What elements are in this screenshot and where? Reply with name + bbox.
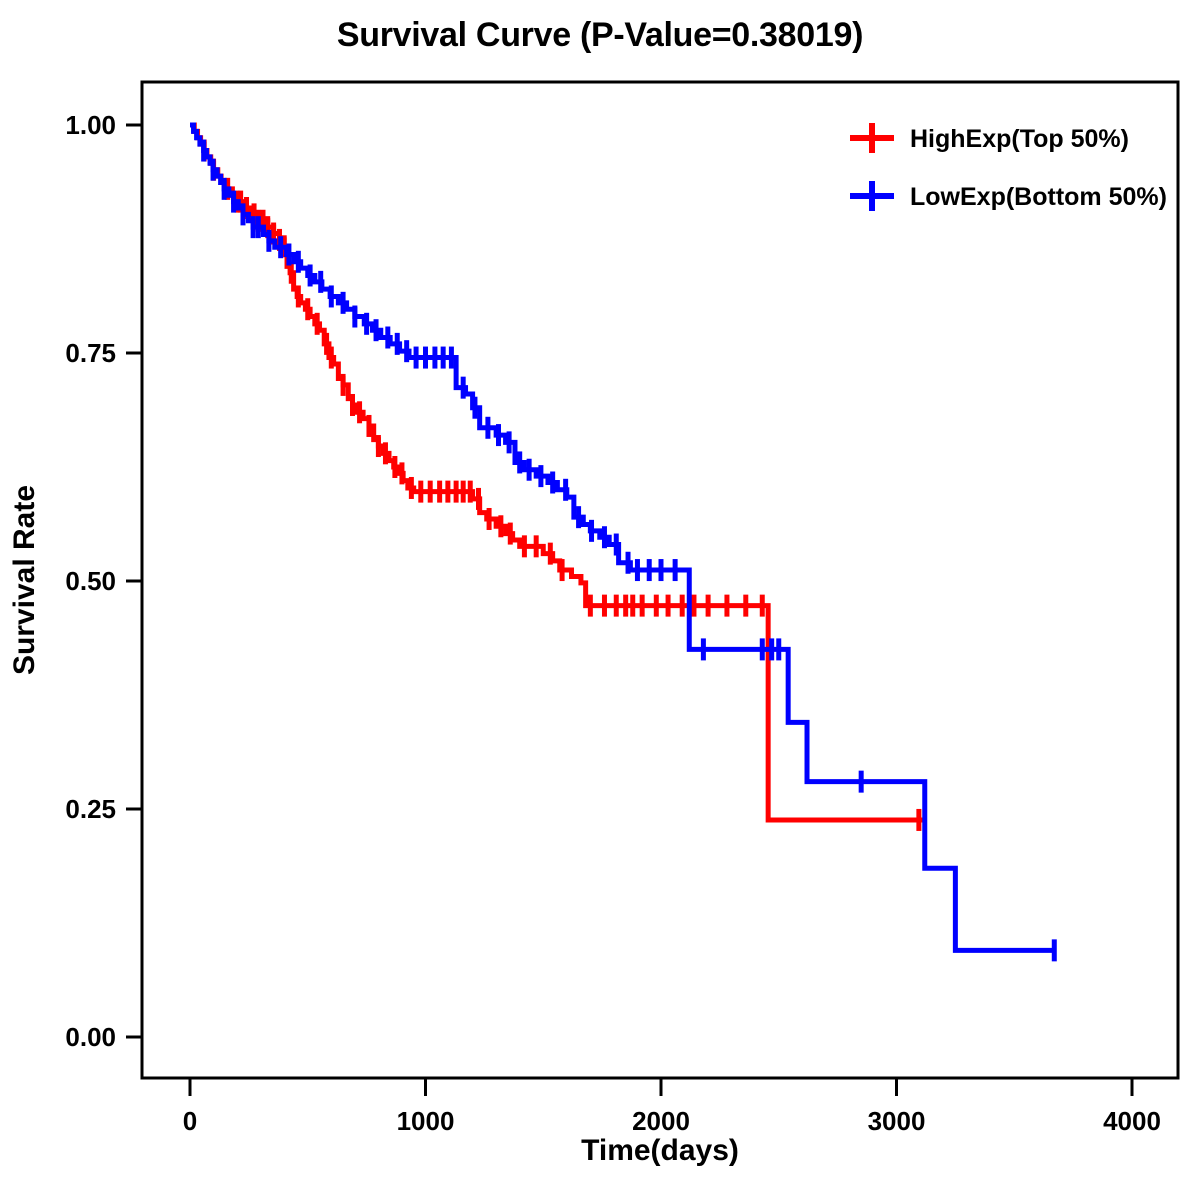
plot-area: 0.000.250.500.751.00 01000200030004000 H… <box>0 0 1200 1200</box>
y-tick-label: 0.25 <box>65 794 116 824</box>
y-tick-label: 1.00 <box>65 110 116 140</box>
legend-label: HighExp(Top 50%) <box>910 125 1129 153</box>
y-tick-label: 0.75 <box>65 338 116 368</box>
y-axis-ticks: 0.000.250.500.751.00 <box>65 110 142 1052</box>
x-tick-label: 0 <box>183 1106 197 1136</box>
legend-label: LowExp(Bottom 50%) <box>910 183 1167 211</box>
survival-curve-figure: Survival Curve (P-Value=0.38019) 0.000.2… <box>0 0 1200 1200</box>
y-axis-title: Survival Rate <box>8 485 41 675</box>
x-axis-ticks: 01000200030004000 <box>183 1078 1161 1136</box>
y-tick-label: 0.50 <box>65 566 116 596</box>
x-tick-label: 1000 <box>397 1106 455 1136</box>
x-tick-label: 4000 <box>1103 1106 1161 1136</box>
x-tick-label: 2000 <box>632 1106 690 1136</box>
x-tick-label: 3000 <box>868 1106 926 1136</box>
y-tick-label: 0.00 <box>65 1022 116 1052</box>
x-axis-title: Time(days) <box>581 1134 739 1167</box>
